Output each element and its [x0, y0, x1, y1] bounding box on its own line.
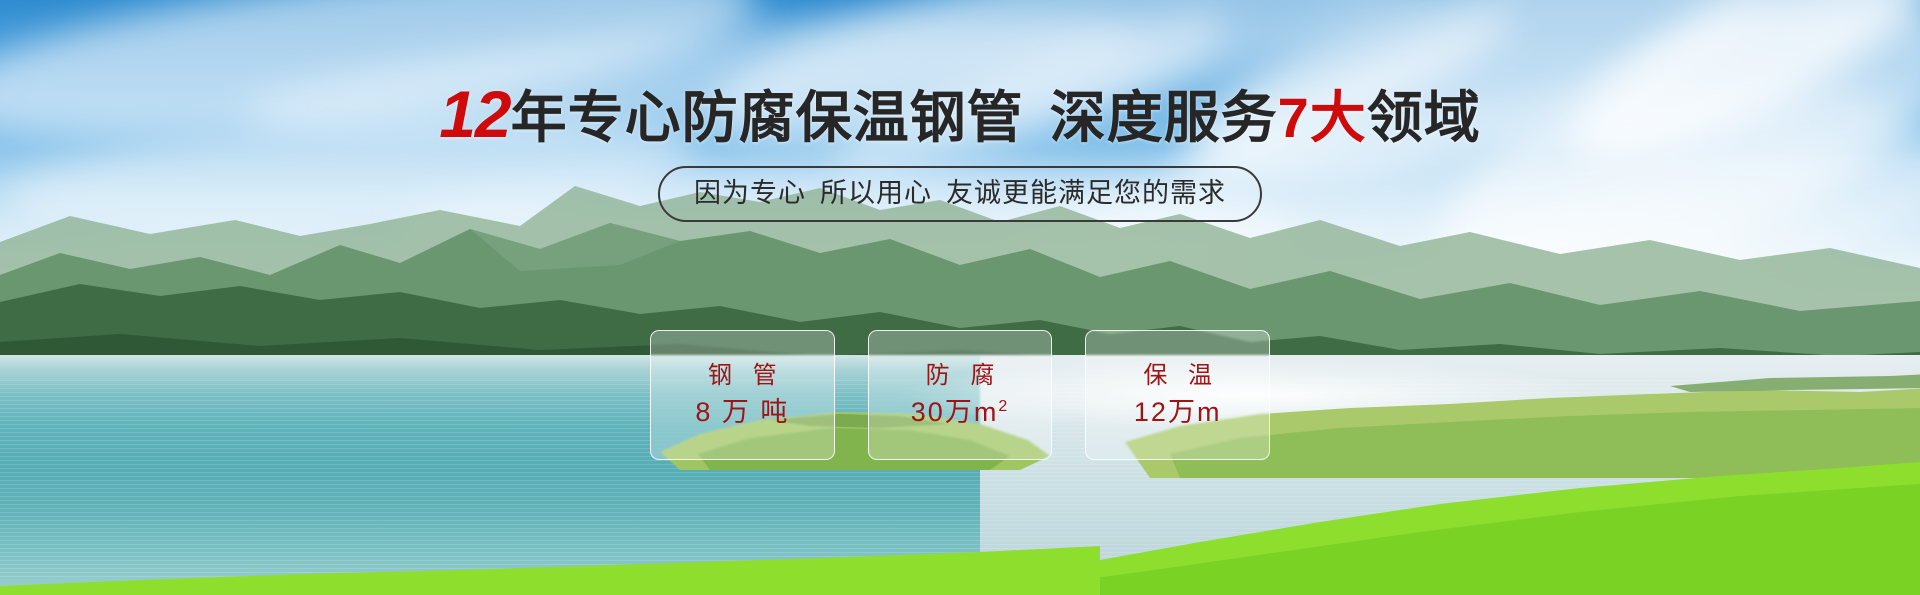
- stat-card-value: 30万m2: [911, 395, 1009, 429]
- stat-card-insulation[interactable]: 保 温 12万m: [1085, 330, 1270, 460]
- foreground-grass-left-icon: [0, 540, 1100, 595]
- stat-card-group: 钢 管 8 万 吨 防 腐 30万m2 保 温 12万m: [650, 330, 1270, 460]
- stat-card-value-superscript: 2: [998, 398, 1009, 415]
- subtitle-pill: 因为专心所以用心友诚更能满足您的需求: [658, 166, 1262, 222]
- headline-accent-seven: 7大: [1278, 86, 1367, 149]
- stat-card-value: 12万m: [1134, 395, 1222, 429]
- headline-text-tail: 领域: [1367, 86, 1481, 149]
- foreground-grass-right-icon: [1020, 460, 1920, 595]
- stat-card-value: 8 万 吨: [695, 395, 789, 429]
- stat-card-value-text: 30万m: [911, 397, 999, 427]
- hero-banner: 12年专心防腐保温钢管深度服务7大领域 因为专心所以用心友诚更能满足您的需求 钢…: [0, 0, 1920, 595]
- stat-card-title: 钢 管: [701, 361, 784, 391]
- stat-card-value-text: 12万m: [1134, 397, 1222, 427]
- headline-number: 12: [439, 77, 510, 151]
- subtitle-part-1: 因为专心: [694, 178, 806, 208]
- stat-card-steel-pipe[interactable]: 钢 管 8 万 吨: [650, 330, 835, 460]
- subtitle-part-3: 友诚更能满足您的需求: [946, 178, 1226, 208]
- headline-text-primary: 年专心防腐保温钢管: [511, 86, 1024, 149]
- headline-text-secondary: 深度服务: [1050, 86, 1278, 149]
- stat-card-anticorrosion[interactable]: 防 腐 30万m2: [868, 330, 1053, 460]
- subtitle-part-2: 所以用心: [820, 178, 932, 208]
- stat-card-value-text: 8 万 吨: [695, 397, 789, 427]
- stat-card-title: 防 腐: [919, 361, 1002, 391]
- stat-card-title: 保 温: [1136, 361, 1219, 391]
- page-title: 12年专心防腐保温钢管深度服务7大领域: [0, 83, 1920, 149]
